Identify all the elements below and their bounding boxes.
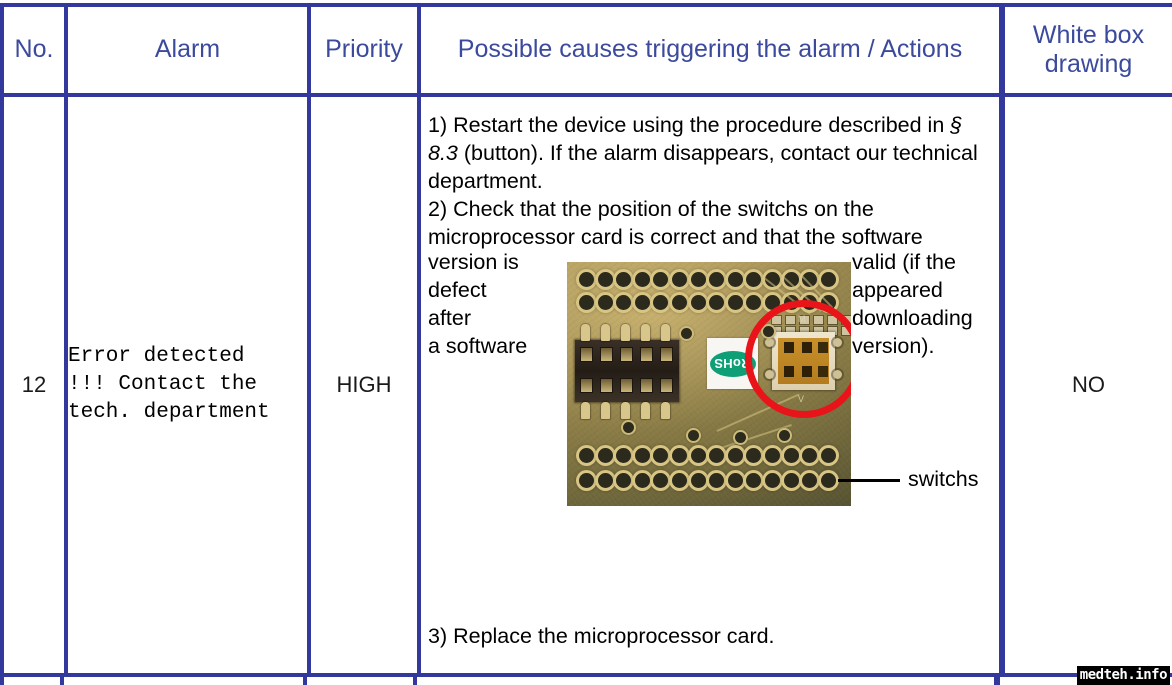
switchs-leader-line <box>838 479 900 482</box>
connector-lead <box>621 324 630 341</box>
connector-lead <box>661 402 670 419</box>
causes-paragraph-block: 1) Restart the device using the procedur… <box>428 112 996 252</box>
pcb-via <box>735 432 746 443</box>
cell-white-box-drawing: NO <box>1002 95 1172 675</box>
white-box-header-line1: White box <box>1033 21 1144 49</box>
pad-row-bottom-1 <box>579 448 839 463</box>
cause-item-1-pre: 1) Restart the device using the procedur… <box>428 113 950 137</box>
table-row: 12 Error detected !!! Contact the tech. … <box>2 95 1172 675</box>
pcb-via <box>688 430 699 441</box>
watermark: medteh.info <box>1077 666 1170 685</box>
connector-lead <box>641 402 650 419</box>
table-header-row: No. Alarm Priority Possible causes trigg… <box>2 5 1172 95</box>
switchs-annotation-label: switchs <box>908 467 978 492</box>
causes-content: 1) Restart the device using the procedur… <box>421 97 999 673</box>
connector-lead <box>581 324 590 341</box>
cell-priority: HIGH <box>309 95 419 675</box>
cause-wrap-text-left: version is defect after a software <box>428 249 558 361</box>
next-row-partial <box>0 676 1172 685</box>
column-header-alarm: Alarm <box>66 5 309 95</box>
connector-lead <box>661 324 670 341</box>
cause-wrap-text-right: valid (if the appeared downloading versi… <box>852 249 1000 361</box>
switch-highlight-circle <box>745 300 851 418</box>
pcb-via <box>623 422 634 433</box>
cause-item-2: 2) Check that the position of the switch… <box>428 197 923 249</box>
cause-item-1-post: (button). If the alarm disappears, conta… <box>428 141 978 193</box>
microprocessor-card-photo: RoHS <box>567 262 851 506</box>
column-header-priority: Priority <box>309 5 419 95</box>
pcb-via <box>681 328 692 339</box>
cause-item-3: 3) Replace the microprocessor card. <box>428 623 775 651</box>
column-header-causes: Possible causes triggering the alarm / A… <box>419 5 1002 95</box>
pcb-via <box>779 430 790 441</box>
connector-lead <box>641 324 650 341</box>
connector-block <box>575 340 679 402</box>
column-header-white-box-drawing: White box drawing <box>1002 5 1172 95</box>
connector-lead <box>601 324 610 341</box>
cell-alarm: Error detected !!! Contact the tech. dep… <box>66 95 309 675</box>
column-header-no: No. <box>2 5 66 95</box>
cell-causes-actions: 1) Restart the device using the procedur… <box>419 95 1002 675</box>
connector-lead <box>601 402 610 419</box>
alarm-table: No. Alarm Priority Possible causes trigg… <box>0 3 1172 677</box>
cell-no: 12 <box>2 95 66 675</box>
white-box-header-line2: drawing <box>1045 50 1133 78</box>
connector-lead <box>581 402 590 419</box>
connector-lead <box>621 402 630 419</box>
pad-row-bottom-2 <box>579 473 839 488</box>
